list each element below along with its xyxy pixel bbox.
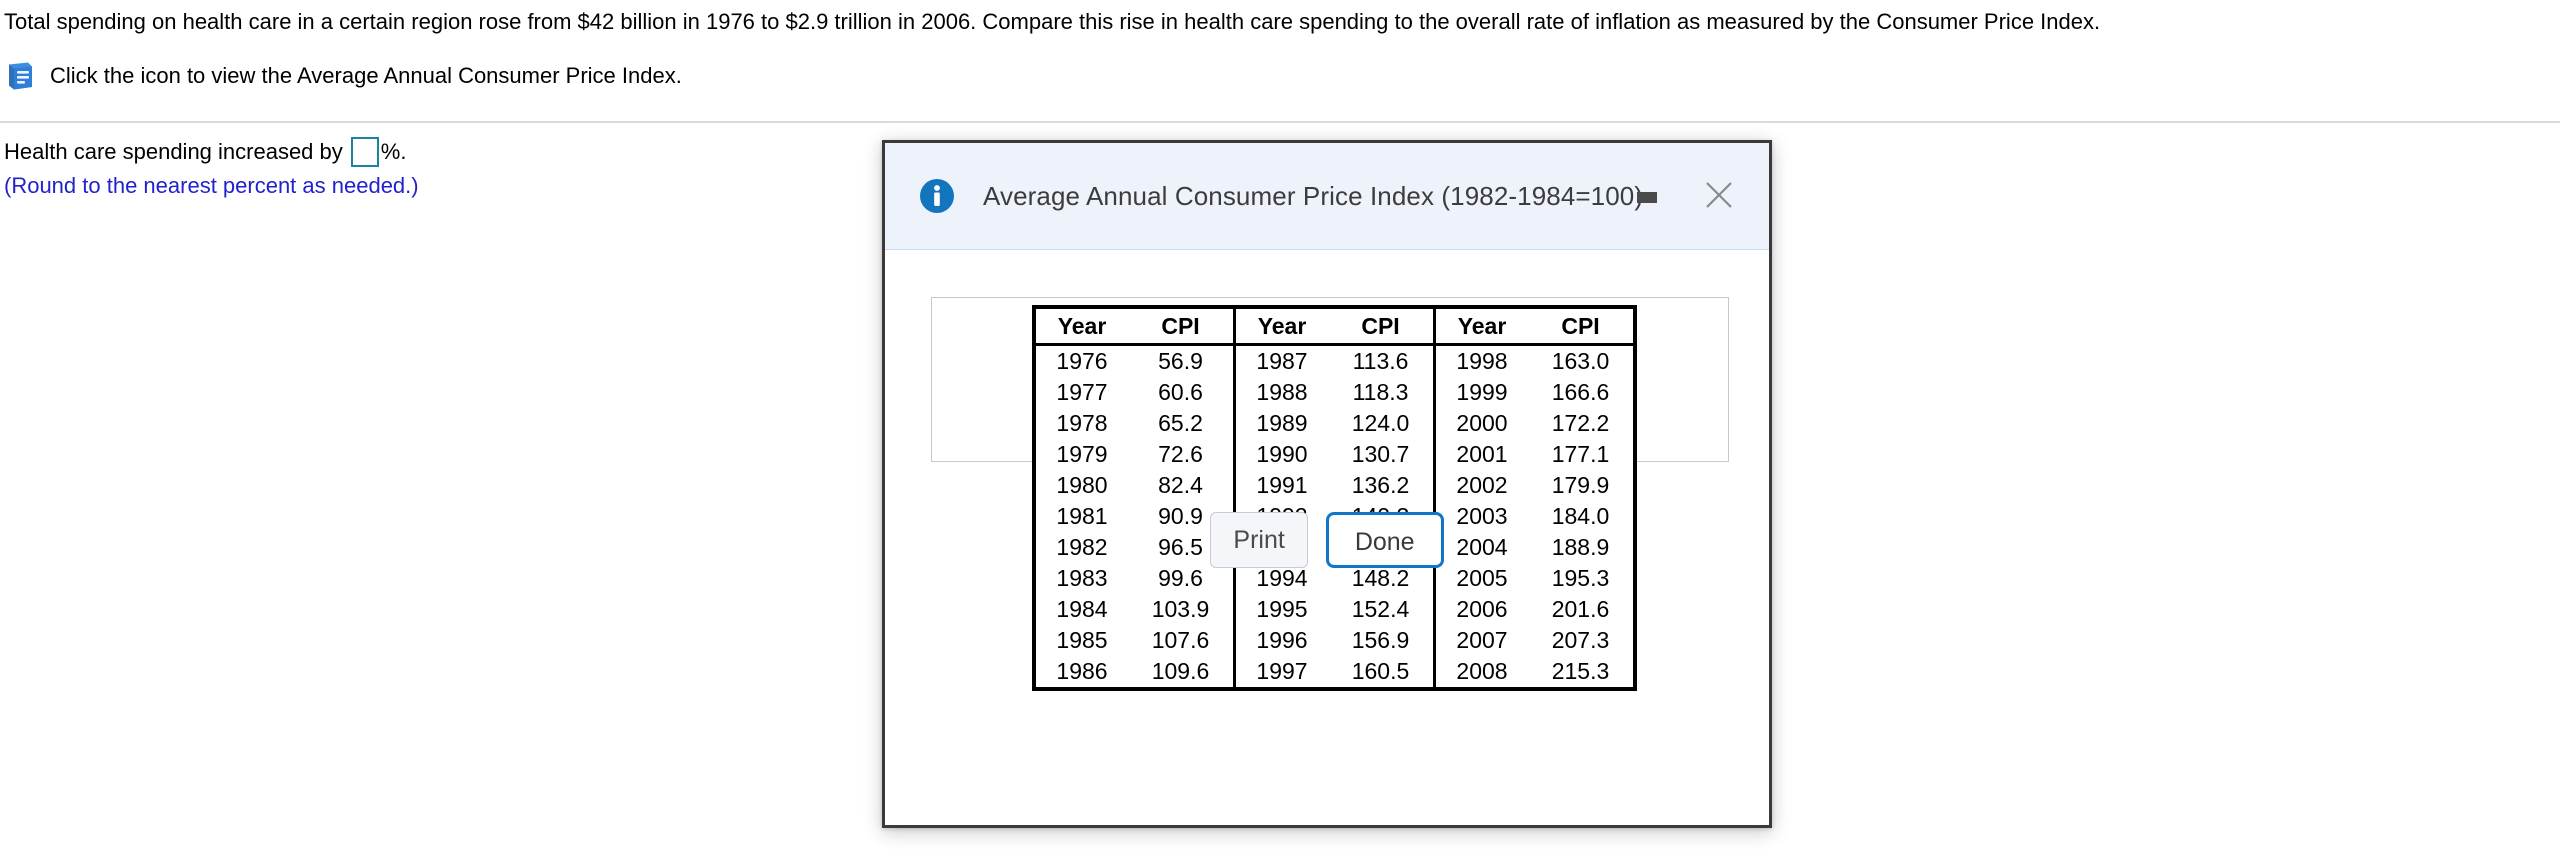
- cell-year: 1989: [1235, 408, 1329, 439]
- cell-year: 1985: [1034, 625, 1128, 656]
- table-row: 1986109.61997160.52008215.3: [1034, 656, 1635, 689]
- cell-cpi: 60.6: [1128, 377, 1235, 408]
- book-icon[interactable]: [4, 60, 36, 92]
- cell-cpi: 207.3: [1528, 625, 1635, 656]
- cell-year: 2000: [1435, 408, 1529, 439]
- table-row: 197972.61990130.72001177.1: [1034, 439, 1635, 470]
- table-header-row: Year CPI Year CPI Year CPI: [1034, 307, 1635, 345]
- cell-year: 1978: [1034, 408, 1128, 439]
- cell-year: 1977: [1034, 377, 1128, 408]
- cell-cpi: 215.3: [1528, 656, 1635, 689]
- cell-cpi: 172.2: [1528, 408, 1635, 439]
- view-data-icon-row[interactable]: Click the icon to view the Average Annua…: [4, 60, 682, 92]
- answer-input[interactable]: [351, 137, 379, 167]
- cell-cpi: 109.6: [1128, 656, 1235, 689]
- cell-year: 2006: [1435, 594, 1529, 625]
- view-data-hint-text: Click the icon to view the Average Annua…: [50, 62, 682, 90]
- cell-year: 1990: [1235, 439, 1329, 470]
- col-header-year-2: Year: [1235, 307, 1329, 345]
- dialog-title: Average Annual Consumer Price Index (198…: [983, 181, 1657, 212]
- cell-cpi: 177.1: [1528, 439, 1635, 470]
- table-row: 198082.41991136.22002179.9: [1034, 470, 1635, 501]
- col-header-cpi-1: CPI: [1128, 307, 1235, 345]
- dialog-header: Average Annual Consumer Price Index (198…: [885, 143, 1769, 250]
- table-row: 197656.91987113.61998163.0: [1034, 345, 1635, 378]
- cell-cpi: 163.0: [1528, 345, 1635, 378]
- cell-cpi: 118.3: [1328, 377, 1435, 408]
- col-header-year-3: Year: [1435, 307, 1529, 345]
- cell-year: 1980: [1034, 470, 1128, 501]
- info-circle-icon: [885, 177, 956, 215]
- table-row: 1984103.91995152.42006201.6: [1034, 594, 1635, 625]
- cell-cpi: 152.4: [1328, 594, 1435, 625]
- cell-year: 2007: [1435, 625, 1529, 656]
- cell-year: 2008: [1435, 656, 1529, 689]
- cell-cpi: 65.2: [1128, 408, 1235, 439]
- cell-year: 1976: [1034, 345, 1128, 378]
- cell-year: 1984: [1034, 594, 1128, 625]
- print-button[interactable]: Print: [1210, 512, 1307, 568]
- col-header-year-1: Year: [1034, 307, 1128, 345]
- cell-cpi: 201.6: [1528, 594, 1635, 625]
- table-frame: Year CPI Year CPI Year CPI 197656.919871…: [931, 297, 1729, 462]
- cell-cpi: 103.9: [1128, 594, 1235, 625]
- cell-cpi: 179.9: [1528, 470, 1635, 501]
- cell-cpi: 72.6: [1128, 439, 1235, 470]
- cell-year: 1986: [1034, 656, 1128, 689]
- cell-year: 1991: [1235, 470, 1329, 501]
- cpi-dialog: Average Annual Consumer Price Index (198…: [882, 140, 1772, 828]
- col-header-cpi-3: CPI: [1528, 307, 1635, 345]
- table-row: 197760.61988118.31999166.6: [1034, 377, 1635, 408]
- cell-year: 1988: [1235, 377, 1329, 408]
- cell-year: 1997: [1235, 656, 1329, 689]
- cell-cpi: 107.6: [1128, 625, 1235, 656]
- cell-cpi: 160.5: [1328, 656, 1435, 689]
- cell-year: 1999: [1435, 377, 1529, 408]
- cpi-table: Year CPI Year CPI Year CPI 197656.919871…: [1032, 305, 1637, 691]
- cell-year: 1995: [1235, 594, 1329, 625]
- answer-line: Health care spending increased by %.: [4, 137, 419, 167]
- section-divider: [0, 121, 2560, 123]
- done-button[interactable]: Done: [1326, 512, 1444, 568]
- cell-cpi: 82.4: [1128, 470, 1235, 501]
- cell-cpi: 56.9: [1128, 345, 1235, 378]
- dialog-footer: Print Done: [885, 512, 1769, 568]
- cell-year: 2002: [1435, 470, 1529, 501]
- cell-year: 1996: [1235, 625, 1329, 656]
- answer-prompt-prefix: Health care spending increased by: [4, 137, 343, 167]
- cell-cpi: 113.6: [1328, 345, 1435, 378]
- cell-cpi: 166.6: [1528, 377, 1635, 408]
- cell-cpi: 156.9: [1328, 625, 1435, 656]
- col-header-cpi-2: CPI: [1328, 307, 1435, 345]
- table-row: 197865.21989124.02000172.2: [1034, 408, 1635, 439]
- table-row: 1985107.61996156.92007207.3: [1034, 625, 1635, 656]
- answer-area: Health care spending increased by %. (Ro…: [4, 137, 419, 200]
- cell-cpi: 124.0: [1328, 408, 1435, 439]
- cell-year: 2001: [1435, 439, 1529, 470]
- dialog-body: Year CPI Year CPI Year CPI 197656.919871…: [885, 250, 1769, 825]
- close-icon[interactable]: [1697, 173, 1741, 217]
- rounding-note: (Round to the nearest percent as needed.…: [4, 172, 419, 200]
- cell-cpi: 136.2: [1328, 470, 1435, 501]
- cell-cpi: 130.7: [1328, 439, 1435, 470]
- problem-statement: Total spending on health care in a certa…: [4, 8, 2100, 36]
- cell-year: 1987: [1235, 345, 1329, 378]
- text-cursor-artifact: [1637, 192, 1657, 203]
- answer-prompt-suffix: %.: [381, 137, 407, 167]
- cell-year: 1979: [1034, 439, 1128, 470]
- cell-year: 1998: [1435, 345, 1529, 378]
